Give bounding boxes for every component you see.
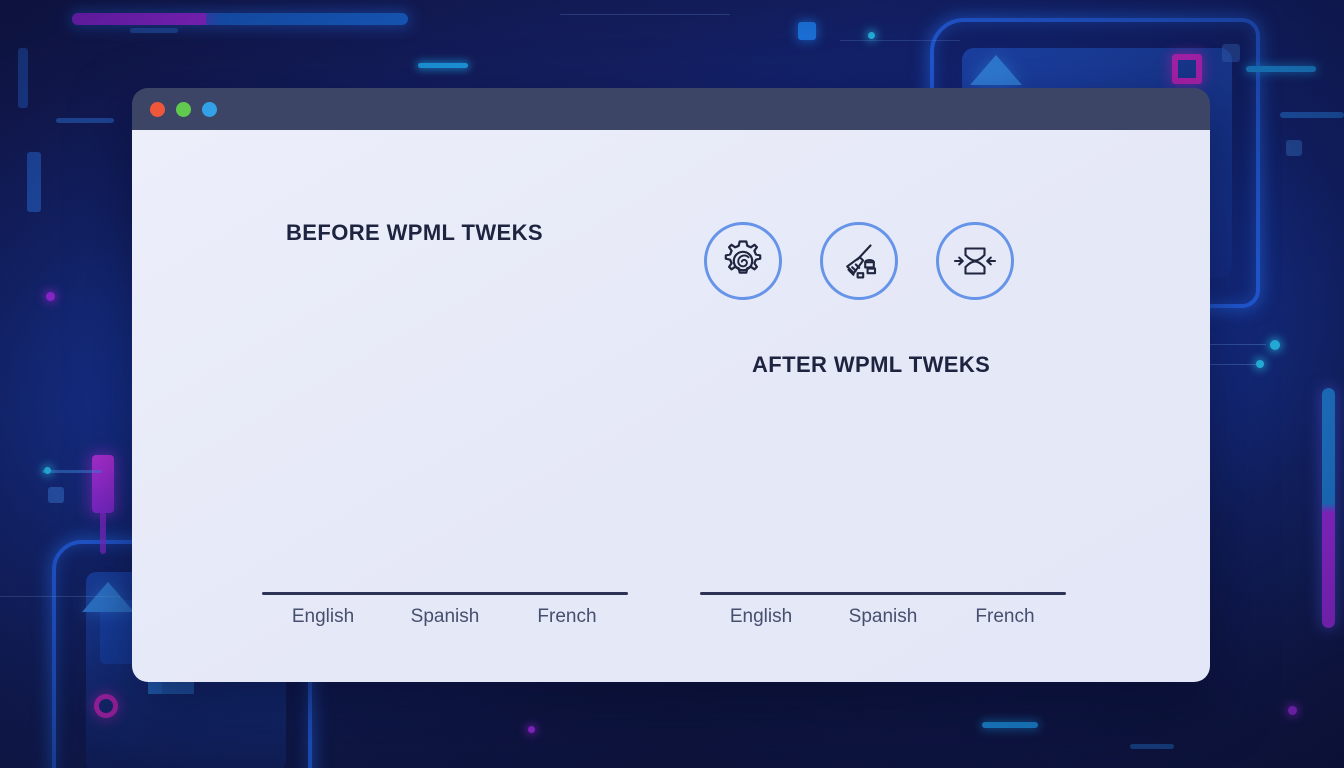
gear-spiral-icon-button[interactable] xyxy=(704,222,782,300)
chart-after: English Spanish French xyxy=(700,395,1066,635)
x-tick-label-french-after: French xyxy=(950,606,1060,628)
x-tick-labels-before: English Spanish French xyxy=(262,599,628,635)
broom-cleanup-icon xyxy=(834,236,884,286)
maximize-button[interactable] xyxy=(202,102,217,117)
feature-icons-row xyxy=(704,222,1014,300)
x-tick-label-spanish-after: Spanish xyxy=(828,606,938,628)
x-tick-label-spanish-before: Spanish xyxy=(390,606,500,628)
app-window: BEFORE WPML TWEKS AFTER WPML TWEKS xyxy=(132,88,1210,682)
window-content: BEFORE WPML TWEKS AFTER WPML TWEKS xyxy=(132,130,1210,682)
x-tick-labels-after: English Spanish French xyxy=(700,599,1066,635)
bars-after xyxy=(700,392,1066,592)
chart-title-before: BEFORE WPML TWEKS xyxy=(286,220,543,246)
x-axis-after xyxy=(700,592,1066,595)
window-titlebar[interactable] xyxy=(132,88,1210,130)
broom-cleanup-icon-button[interactable] xyxy=(820,222,898,300)
chart-title-after: AFTER WPML TWEKS xyxy=(752,352,990,378)
plot-area-after xyxy=(700,395,1066,595)
x-axis-before xyxy=(262,592,628,595)
bars-before xyxy=(262,252,628,592)
close-button[interactable] xyxy=(150,102,165,117)
plot-area-before xyxy=(262,255,628,595)
compress-icon xyxy=(950,236,1000,286)
x-tick-label-english-before: English xyxy=(268,606,378,628)
x-tick-label-french-before: French xyxy=(512,606,622,628)
gear-spiral-icon xyxy=(718,236,768,286)
chart-before: English Spanish French xyxy=(262,255,628,635)
minimize-button[interactable] xyxy=(176,102,191,117)
compress-icon-button[interactable] xyxy=(936,222,1014,300)
x-tick-label-english-after: English xyxy=(706,606,816,628)
